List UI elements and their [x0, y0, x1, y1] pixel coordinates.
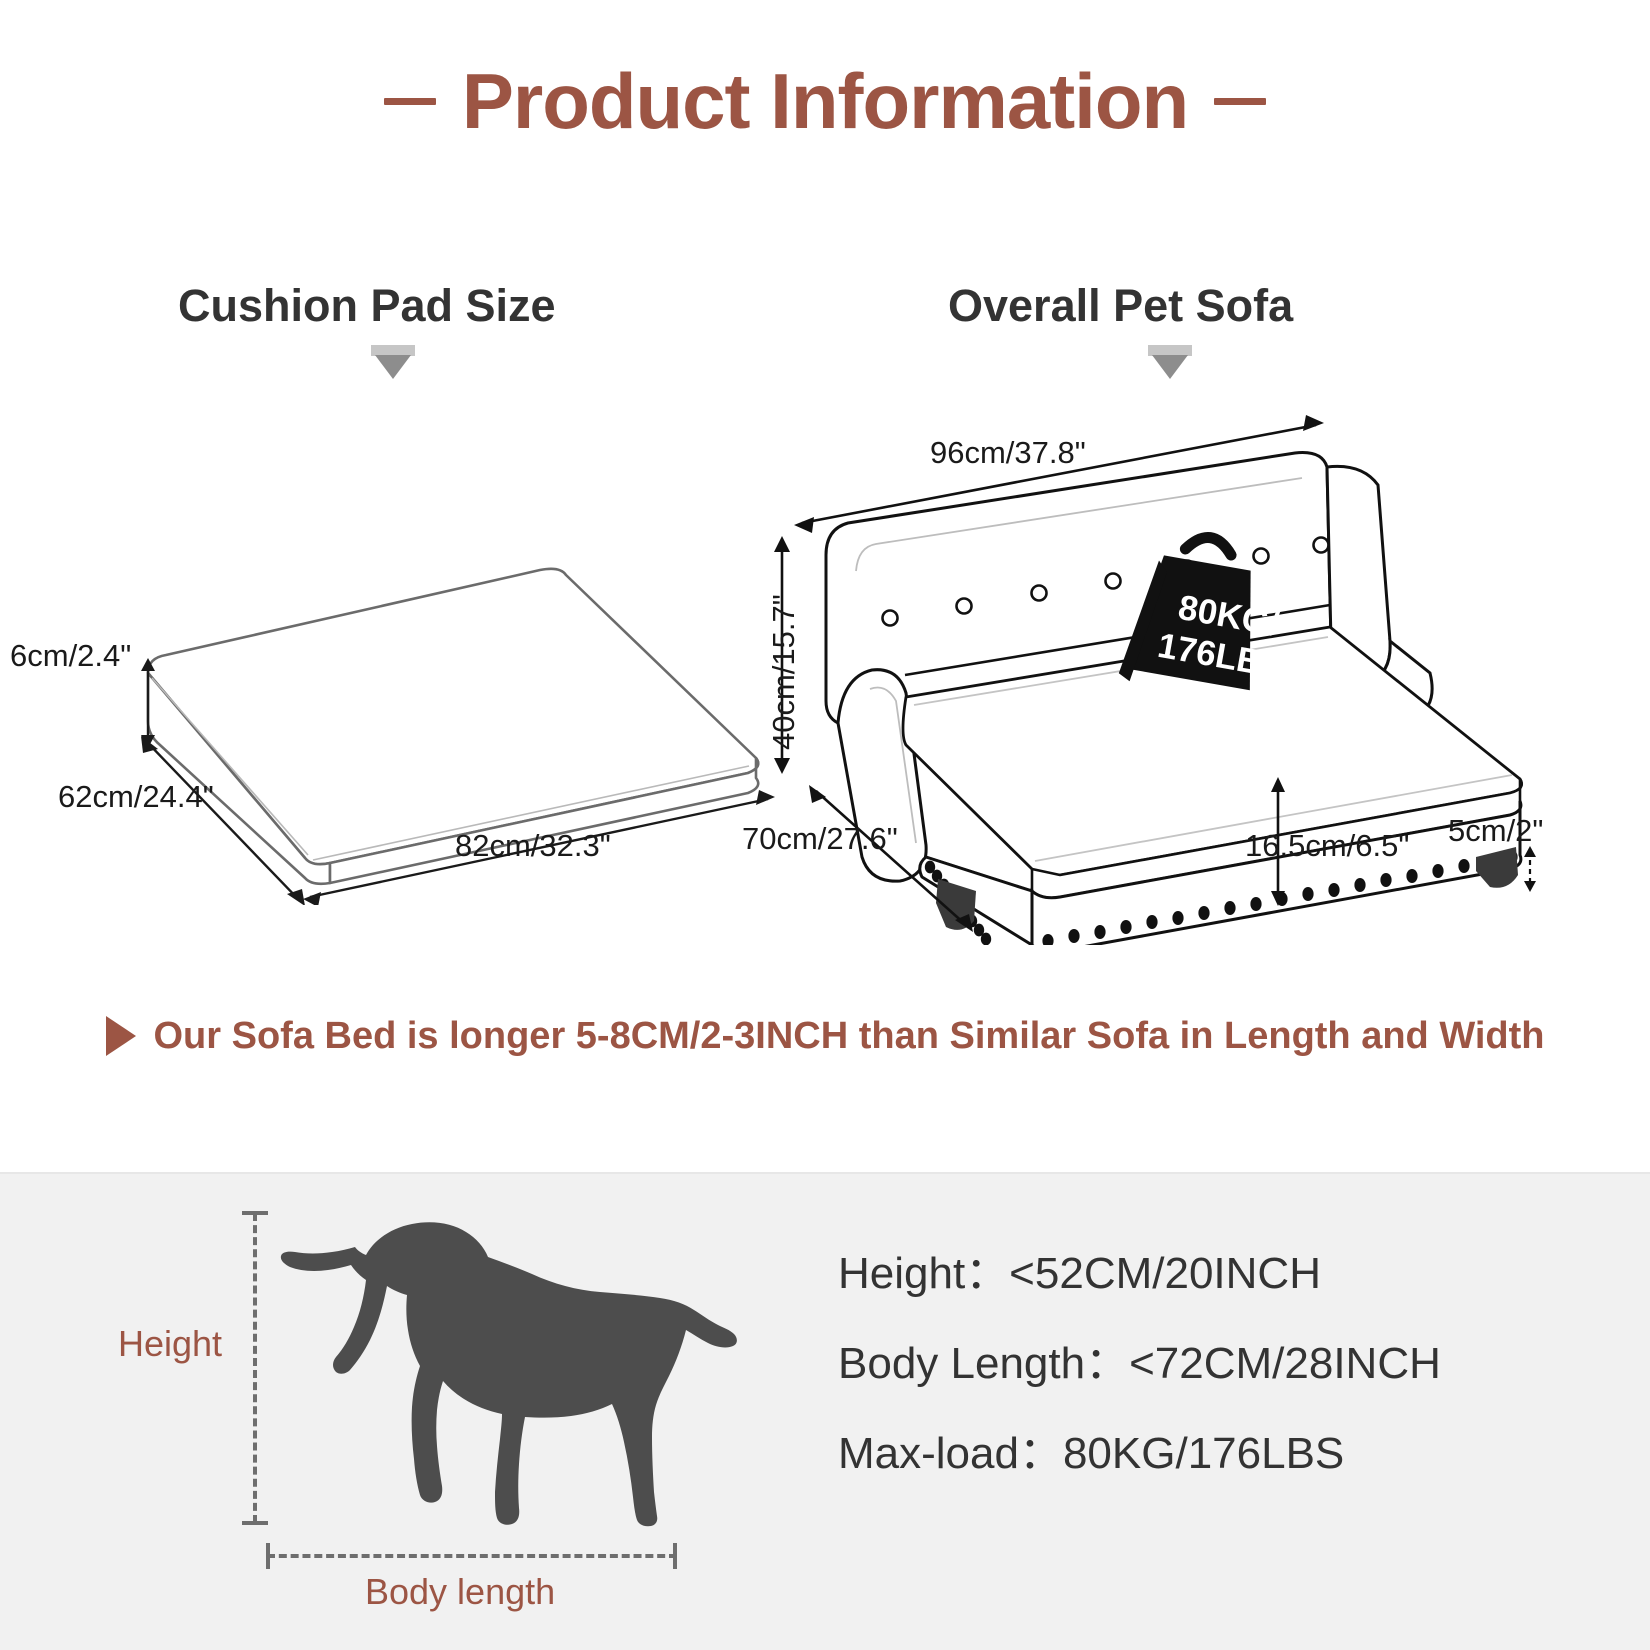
dog-measurement-diagram: Height Body length: [60, 1174, 760, 1650]
pet-spec-list: Height：<52CM/20INCH Body Length：<72CM/28…: [838, 1252, 1598, 1476]
cushion-pad-diagram: 6cm/2.4" 62cm/24.4" 82cm/32.3": [0, 545, 790, 905]
spec-height: Height：<52CM/20INCH: [838, 1252, 1598, 1296]
title-dash-right: [1214, 98, 1266, 105]
triangle-right-icon: [106, 1016, 136, 1056]
pet-size-section: Height Body length Height：<52CM/20INCH B…: [0, 1172, 1650, 1650]
height-dashed-line: [253, 1213, 257, 1523]
height-cap-bottom: [242, 1521, 268, 1525]
cushion-depth-label: 62cm/24.4": [58, 781, 214, 812]
dog-silhouette-icon: [270, 1194, 740, 1544]
sofa-height-label: 40cm/15.7": [768, 594, 799, 750]
sofa-section-heading: Overall Pet Sofa: [948, 283, 1293, 328]
cushion-pad-drawing: [0, 545, 790, 905]
sofa-depth-label: 70cm/27.6": [742, 823, 898, 854]
cushion-thickness-label: 6cm/2.4": [10, 640, 131, 671]
page-title: Product Information: [462, 62, 1188, 140]
body-length-label: Body length: [365, 1574, 555, 1610]
body-length-dashed-line: [267, 1554, 677, 1558]
claim-text: Our Sofa Bed is longer 5-8CM/2-3INCH tha…: [154, 1017, 1545, 1055]
body-length-cap-right: [673, 1543, 677, 1569]
cushion-section-heading: Cushion Pad Size: [178, 283, 556, 328]
cushion-width-label: 82cm/32.3": [455, 830, 611, 861]
spec-max-load: Max-load：80KG/176LBS: [838, 1432, 1598, 1476]
page-title-row: Product Information: [0, 62, 1650, 140]
pet-sofa-drawing: [730, 405, 1650, 945]
pet-sofa-diagram: 96cm/37.8" 40cm/15.7" 70cm/27.6" 16.5cm/…: [730, 405, 1650, 945]
product-information-infographic: Product Information Cushion Pad Size Ove…: [0, 0, 1650, 1650]
down-arrow-icon: [371, 345, 415, 379]
sofa-leg-height-label: 5cm/2": [1448, 815, 1543, 846]
sofa-width-label: 96cm/37.8": [930, 437, 1086, 468]
title-dash-left: [384, 98, 436, 105]
claim-banner: Our Sofa Bed is longer 5-8CM/2-3INCH tha…: [0, 1016, 1650, 1056]
top-white-section: Product Information Cushion Pad Size Ove…: [0, 0, 1650, 1172]
height-label: Height: [118, 1326, 222, 1362]
sofa-seat-height-label: 16.5cm/6.5": [1245, 830, 1409, 861]
spec-body-length: Body Length：<72CM/28INCH: [838, 1342, 1598, 1386]
down-arrow-icon: [1148, 345, 1192, 379]
